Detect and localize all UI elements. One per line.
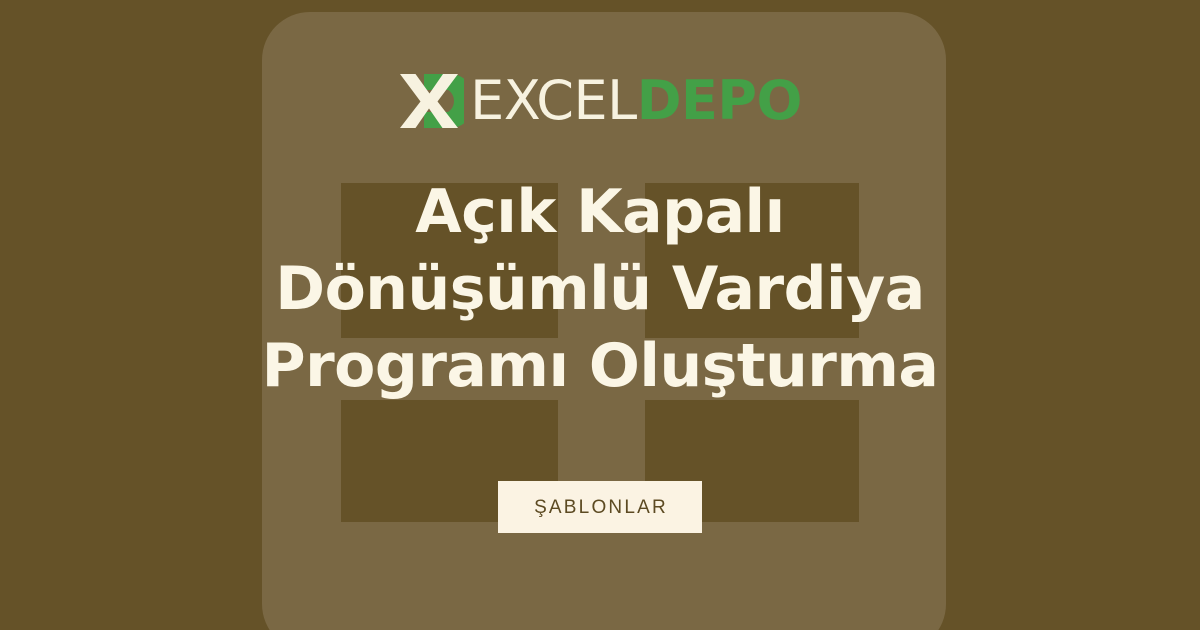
page-title-line-2: Dönüşümlü Vardiya xyxy=(275,254,924,324)
brand-wordmark-depo: DEPO xyxy=(637,69,802,132)
cover-canvas: EXCELDEPO Açık Kapalı Dönüşümlü Vardiya … xyxy=(0,0,1200,630)
brand-wordmark: EXCELDEPO xyxy=(470,74,802,128)
brand-wordmark-excel: EXCEL xyxy=(470,69,637,132)
page-title: Açık Kapalı Dönüşümlü Vardiya Programı O… xyxy=(220,174,980,404)
brand-logo[interactable]: EXCELDEPO xyxy=(398,70,802,132)
category-badge[interactable]: ŞABLONLAR xyxy=(498,481,702,533)
page-title-line-3: Programı Oluşturma xyxy=(262,331,939,401)
cover-content: EXCELDEPO Açık Kapalı Dönüşümlü Vardiya … xyxy=(0,0,1200,630)
xd-monogram-icon xyxy=(398,70,464,132)
page-title-line-1: Açık Kapalı xyxy=(415,177,784,247)
